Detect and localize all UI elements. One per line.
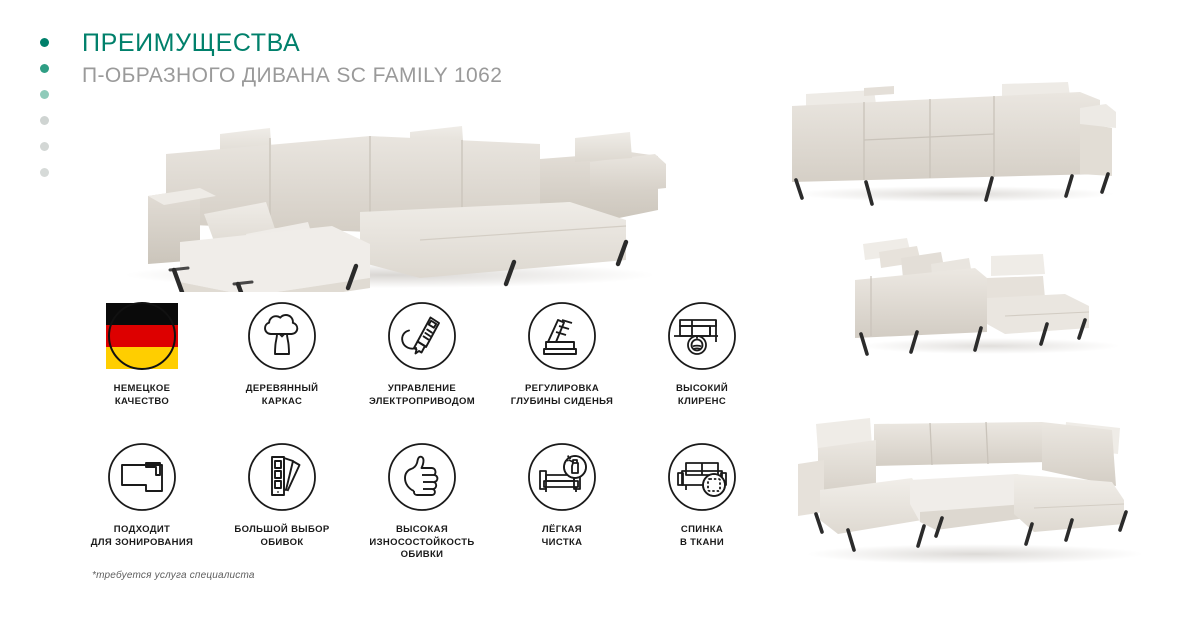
remote-control-icon xyxy=(386,300,458,372)
features-grid: НЕМЕЦКОЕКАЧЕСТВОДЕРЕВЯННЫЙКАРКАСУПРАВЛЕН… xyxy=(72,300,772,562)
feature-item-remote-control[interactable]: УПРАВЛЕНИЕЭЛЕКТРОПРИВОДОМ xyxy=(352,300,492,408)
page-title: ПРЕИМУЩЕСТВА xyxy=(82,28,722,58)
feature-label: БОЛЬШОЙ ВЫБОРОБИВОК xyxy=(234,524,329,549)
feature-label-line: КАЧЕСТВО xyxy=(114,396,171,409)
hero-u-sofa-front-three-quarter xyxy=(70,92,690,292)
feature-item-german-flag[interactable]: НЕМЕЦКОЕКАЧЕСТВО xyxy=(72,300,212,408)
feature-label-line: ЛЁГКАЯ xyxy=(542,524,583,537)
page-subtitle: П-ОБРАЗНОГО ДИВАНА SC FAMILY 1062 xyxy=(82,62,722,90)
sofa-sleeper-extended-view xyxy=(790,408,1155,573)
feature-item-seat-depth-adjust[interactable]: РЕГУЛИРОВКАГЛУБИНЫ СИДЕНЬЯ xyxy=(492,300,632,408)
feature-label-line: УПРАВЛЕНИЕ xyxy=(369,383,475,396)
feature-label-line: КАРКАС xyxy=(246,396,319,409)
feature-item-fabric-backrest[interactable]: СПИНКАВ ТКАНИ xyxy=(632,441,772,562)
fabric-swatches-icon xyxy=(246,441,318,513)
rail-dot-2 xyxy=(40,64,49,73)
feature-label-line: РЕГУЛИРОВКА xyxy=(511,383,613,396)
heading-block: ПРЕИМУЩЕСТВА П-ОБРАЗНОГО ДИВАНА SC FAMIL… xyxy=(82,28,722,90)
feature-label-line: ОБИВКИ xyxy=(369,549,474,562)
feature-item-thumbs-up[interactable]: ВЫСОКАЯИЗНОСОСТОЙКОСТЬОБИВКИ xyxy=(352,441,492,562)
rail-dot-3 xyxy=(40,90,49,99)
fabric-backrest-icon xyxy=(666,441,738,513)
feature-item-robot-vacuum-clearance[interactable]: ВЫСОКИЙКЛИРЕНС xyxy=(632,300,772,408)
rail-dot-4 xyxy=(40,116,49,125)
sofa-side-view xyxy=(845,228,1125,360)
sofa-rear-view xyxy=(780,78,1125,210)
feature-label: УПРАВЛЕНИЕЭЛЕКТРОПРИВОДОМ xyxy=(369,383,475,408)
room-zoning-icon xyxy=(106,441,178,513)
feature-label-line: КЛИРЕНС xyxy=(676,396,728,409)
feature-label-line: ВЫСОКИЙ xyxy=(676,383,728,396)
robot-vacuum-clearance-icon xyxy=(666,300,738,372)
german-flag-icon xyxy=(106,300,178,372)
feature-label: ДЕРЕВЯННЫЙКАРКАС xyxy=(246,383,319,408)
feature-label-line: СПИНКА xyxy=(680,524,724,537)
feature-label-line: ЭЛЕКТРОПРИВОДОМ xyxy=(369,396,475,409)
feature-label: ЛЁГКАЯЧИСТКА xyxy=(542,524,583,549)
seat-depth-adjust-icon xyxy=(526,300,598,372)
decorative-dot-column xyxy=(40,38,54,194)
thumbs-up-icon xyxy=(386,441,458,513)
feature-item-room-zoning[interactable]: ПОДХОДИТДЛЯ ЗОНИРОВАНИЯ xyxy=(72,441,212,562)
feature-label: НЕМЕЦКОЕКАЧЕСТВО xyxy=(114,383,171,408)
feature-label-line: БОЛЬШОЙ ВЫБОР xyxy=(234,524,329,537)
feature-label-line: ИЗНОСОСТОЙКОСТЬ xyxy=(369,537,474,550)
slide-root: ПРЕИМУЩЕСТВА П-ОБРАЗНОГО ДИВАНА SC FAMIL… xyxy=(0,0,1200,620)
feature-item-easy-clean-spray[interactable]: ЛЁГКАЯЧИСТКА xyxy=(492,441,632,562)
feature-row-2: ПОДХОДИТДЛЯ ЗОНИРОВАНИЯБОЛЬШОЙ ВЫБОРОБИВ… xyxy=(72,441,772,562)
feature-label: ВЫСОКИЙКЛИРЕНС xyxy=(676,383,728,408)
feature-label-line: ЧИСТКА xyxy=(542,537,583,550)
feature-label: СПИНКАВ ТКАНИ xyxy=(680,524,724,549)
feature-label-line: ОБИВОК xyxy=(234,537,329,550)
feature-label: ВЫСОКАЯИЗНОСОСТОЙКОСТЬОБИВКИ xyxy=(369,524,474,562)
rail-dot-5 xyxy=(40,142,49,151)
feature-label-line: ВЫСОКАЯ xyxy=(369,524,474,537)
tree-icon xyxy=(246,300,318,372)
feature-label-line: ГЛУБИНЫ СИДЕНЬЯ xyxy=(511,396,613,409)
footnote: *требуется услуга специалиста xyxy=(92,570,255,581)
feature-label-line: ДЛЯ ЗОНИРОВАНИЯ xyxy=(91,537,193,550)
easy-clean-spray-icon xyxy=(526,441,598,513)
feature-label: РЕГУЛИРОВКАГЛУБИНЫ СИДЕНЬЯ xyxy=(511,383,613,408)
rail-dot-1 xyxy=(40,38,49,47)
feature-item-fabric-swatches[interactable]: БОЛЬШОЙ ВЫБОРОБИВОК xyxy=(212,441,352,562)
feature-row-1: НЕМЕЦКОЕКАЧЕСТВОДЕРЕВЯННЫЙКАРКАСУПРАВЛЕН… xyxy=(72,300,772,408)
feature-label-line: ДЕРЕВЯННЫЙ xyxy=(246,383,319,396)
feature-item-tree[interactable]: ДЕРЕВЯННЫЙКАРКАС xyxy=(212,300,352,408)
feature-label: ПОДХОДИТДЛЯ ЗОНИРОВАНИЯ xyxy=(91,524,193,549)
feature-label-line: ПОДХОДИТ xyxy=(91,524,193,537)
rail-dot-6 xyxy=(40,168,49,177)
feature-label-line: В ТКАНИ xyxy=(680,537,724,550)
feature-label-line: НЕМЕЦКОЕ xyxy=(114,383,171,396)
